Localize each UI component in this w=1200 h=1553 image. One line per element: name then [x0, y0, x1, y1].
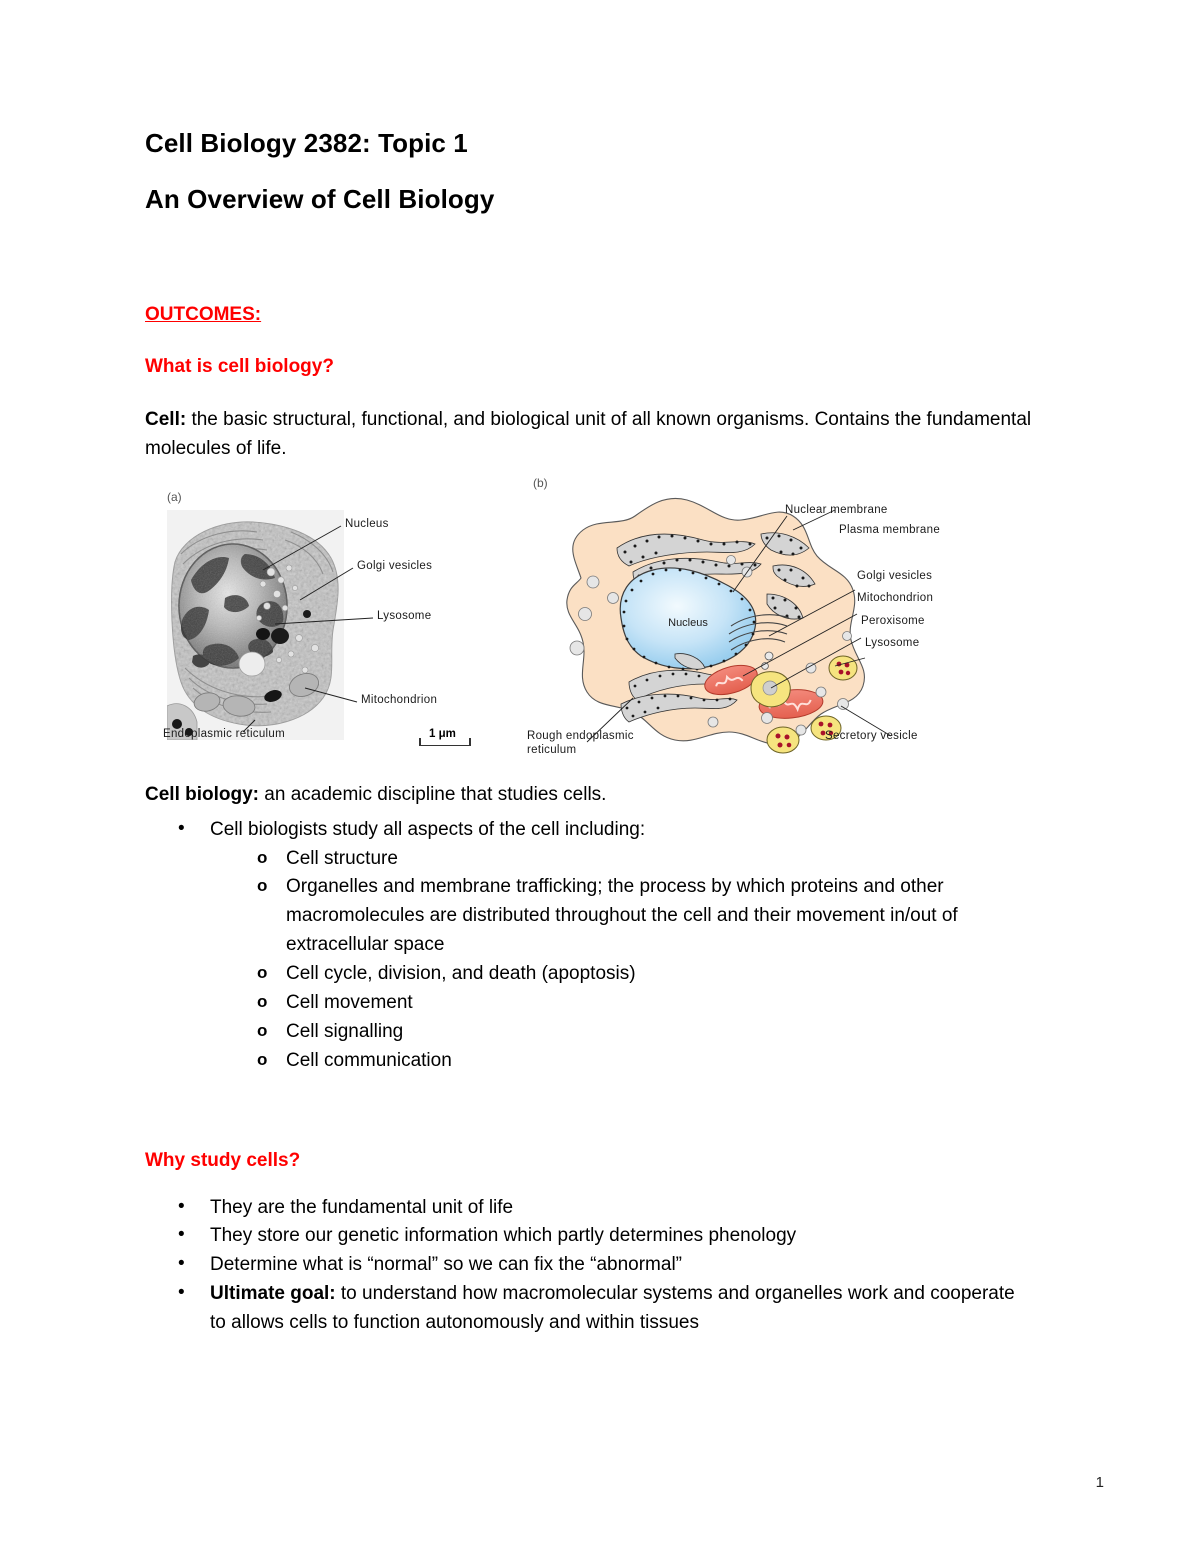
bullet-disc-icon: •: [178, 1250, 185, 1279]
cell-figure: (a): [145, 472, 1035, 777]
panel-b-label-golgi-vesicles: Golgi vesicles: [857, 570, 932, 582]
panel-b-label-peroxisome: Peroxisome: [861, 615, 925, 627]
cell-definition-paragraph: Cell: the basic structural, functional, …: [145, 406, 1035, 464]
panel-b-label-mitochondrion: Mitochondrion: [857, 592, 933, 604]
study-intro-text: Cell biologists study all aspects of the…: [210, 819, 645, 840]
bullet-disc-icon: •: [178, 1279, 185, 1308]
bullet-circle-icon: o: [257, 960, 267, 986]
list-item: o Cell communication: [210, 1047, 1035, 1076]
list-item: o Cell cycle, division, and death (apopt…: [210, 960, 1035, 989]
study-item-text: Organelles and membrane trafficking; the…: [286, 876, 958, 955]
study-item-text: Cell cycle, division, and death (apoptos…: [286, 963, 636, 984]
what-is-cell-biology-heading: What is cell biology?: [145, 356, 1035, 378]
list-item: • Ultimate goal: to understand how macro…: [145, 1280, 1035, 1338]
panel-a-label-nucleus: Nucleus: [345, 518, 389, 530]
outcomes-heading: OUTCOMES:: [145, 304, 261, 326]
bullet-circle-icon: o: [257, 989, 267, 1015]
study-item-text: Cell communication: [286, 1050, 452, 1071]
list-item: • Determine what is “normal” so we can f…: [145, 1251, 1035, 1280]
list-item: o Organelles and membrane trafficking; t…: [210, 873, 1035, 960]
list-item: o Cell structure: [210, 845, 1035, 874]
scale-bar-tick-right: [469, 738, 471, 746]
list-item: o Cell movement: [210, 989, 1035, 1018]
study-item-text: Cell movement: [286, 992, 413, 1013]
panel-b-label-rough-er-line1: Rough endoplasmic: [527, 730, 634, 742]
panel-b-label-nuclear-membrane: Nuclear membrane: [785, 504, 888, 516]
page-title: Cell Biology 2382: Topic 1: [145, 130, 1035, 156]
bullet-circle-icon: o: [257, 1047, 267, 1073]
panel-b-label-rough-er-line2: reticulum: [527, 744, 576, 756]
scale-bar: 1 μm: [417, 730, 477, 754]
scale-bar-tick-left: [419, 738, 421, 746]
panel-a-label-lysosome: Lysosome: [377, 610, 431, 622]
bullet-disc-icon: •: [178, 815, 185, 844]
cell-definition-term: Cell:: [145, 409, 186, 430]
panel-b-label-plasma-membrane: Plasma membrane: [839, 524, 940, 536]
scale-bar-label: 1 μm: [429, 728, 456, 740]
why-study-cells-heading: Why study cells?: [145, 1150, 1035, 1172]
bullet-disc-icon: •: [178, 1193, 185, 1222]
document-content: Cell Biology 2382: Topic 1 An Overview o…: [145, 130, 1035, 1338]
why-study-item-text: Determine what is “normal” so we can fix…: [210, 1254, 682, 1275]
study-aspects-list: • Cell biologists study all aspects of t…: [145, 816, 1035, 1076]
page-number: 1: [1096, 1474, 1104, 1491]
study-item-text: Cell signalling: [286, 1021, 403, 1042]
document-page: Cell Biology 2382: Topic 1 An Overview o…: [0, 0, 1200, 1553]
scale-bar-line: [419, 745, 471, 747]
cell-biology-definition-text: an academic discipline that studies cell…: [259, 784, 606, 805]
why-study-item-text: They are the fundamental unit of life: [210, 1197, 513, 1218]
why-study-item-text: They store our genetic information which…: [210, 1225, 796, 1246]
bullet-circle-icon: o: [257, 873, 267, 899]
bullet-disc-icon: •: [178, 1221, 185, 1250]
outcomes-heading-wrap: OUTCOMES:: [145, 304, 1035, 356]
list-item: o Cell signalling: [210, 1018, 1035, 1047]
panel-b-label-lysosome: Lysosome: [865, 637, 919, 649]
why-study-item-bold: Ultimate goal:: [210, 1283, 336, 1304]
list-item: • They are the fundamental unit of life: [145, 1194, 1035, 1223]
study-aspects-sublist: o Cell structure o Organelles and membra…: [210, 845, 1035, 1076]
study-item-text: Cell structure: [286, 848, 398, 869]
why-study-cells-list: • They are the fundamental unit of life …: [145, 1194, 1035, 1338]
bullet-circle-icon: o: [257, 1018, 267, 1044]
cell-definition-text: the basic structural, functional, and bi…: [145, 409, 1031, 459]
panel-a-label-endoplasmic-reticulum: Endoplasmic reticulum: [163, 728, 285, 740]
panel-a-label-mitochondrion: Mitochondrion: [361, 694, 437, 706]
cell-biology-definition-term: Cell biology:: [145, 784, 259, 805]
page-subtitle: An Overview of Cell Biology: [145, 186, 1035, 212]
bullet-circle-icon: o: [257, 845, 267, 871]
list-item: • Cell biologists study all aspects of t…: [145, 816, 1035, 1076]
panel-b-label-secretory-vesicle: Secretory vesicle: [825, 730, 918, 742]
list-item: • They store our genetic information whi…: [145, 1222, 1035, 1251]
panel-a-label-golgi-vesicles: Golgi vesicles: [357, 560, 432, 572]
